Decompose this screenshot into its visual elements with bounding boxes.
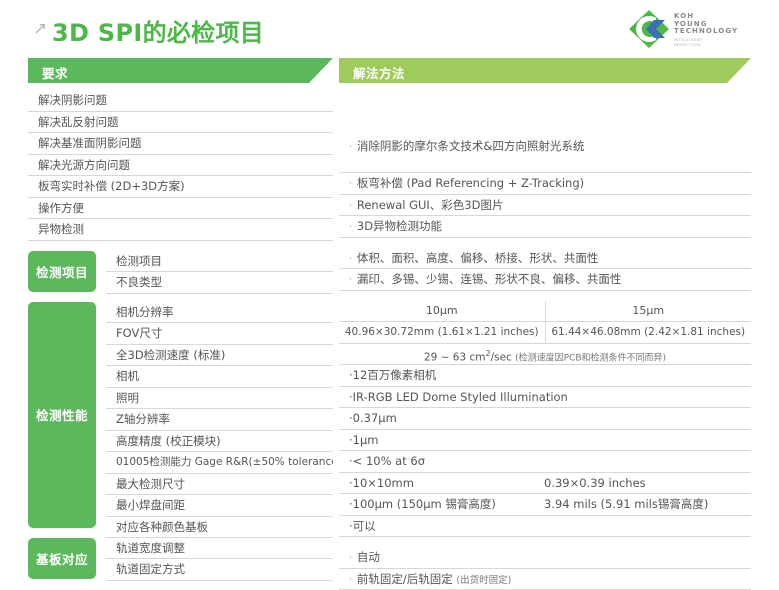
speed-value: 29 ~ 63 cm: [424, 351, 486, 363]
bullet-icon: ·: [349, 201, 352, 211]
bullet-icon: ·: [349, 275, 352, 285]
resolution-col-10um: 10µm: [339, 301, 546, 322]
group-chip-inspection-items: 检测项目: [28, 251, 96, 292]
table-row: 相机分辨率: [106, 302, 333, 324]
bullet-icon: ·: [349, 254, 352, 264]
group-chip-inspection-performance: 检测性能: [28, 302, 96, 528]
row-value-wrap: ·IR-RGB LED Dome Styled Illumination: [349, 387, 568, 408]
row-label: 不良类型: [106, 272, 333, 293]
table-row: ·100µm (150µm 锡膏高度) 3.94 mils (5.91 mils…: [339, 494, 751, 516]
logo-wordmark: KOH YOUNG TECHNOLOGY: [674, 13, 738, 36]
company-logo: KOH YOUNG TECHNOLOGY INTELLIGENT INSPECT…: [629, 8, 753, 50]
table-row: 解决乱反射问题: [28, 112, 333, 134]
row-value-note: (出货时固定): [456, 575, 511, 586]
table-row: ·3D异物检测功能: [339, 216, 751, 238]
row-value-wrap: ·可以: [349, 516, 376, 537]
row-label: 高度精度 (校正模块): [106, 431, 333, 452]
table-row: ·可以: [339, 516, 751, 538]
solutions-column: 解法方法 ·消除阴影的摩尔条文技术&四方向照射光系统 ·板弯补偿 (Pad Re…: [339, 58, 751, 83]
table-row: 操作方便: [28, 198, 333, 220]
table-row: ·Renewal GUI、彩色3D图片: [339, 195, 751, 217]
resolution-column-headers: 10µm 15µm: [339, 301, 751, 323]
row-label: 对应各种颜色基板: [106, 517, 333, 538]
group-rows: 相机分辨率 FOV尺寸 全3D检测速度 (标准) 相机 照明 Z轴分辨率 高度精…: [106, 302, 333, 539]
table-row: ·1µm: [339, 430, 751, 452]
group-rows: 检测项目 不良类型: [106, 251, 333, 294]
speed-row: 29 ~ 63 cm2/sec (检测速度因PCB和检测条件不同而异): [339, 344, 751, 366]
row-value-wrap: ·10×10mm: [349, 473, 414, 494]
row-value: 自动: [357, 550, 380, 564]
speed-unit: /sec: [491, 351, 512, 363]
row-value-wrap: ·100µm (150µm 锡膏高度): [349, 494, 496, 515]
table-row: 解决基准面阴影问题: [28, 133, 333, 155]
table-row: ·板弯补偿 (Pad Referencing + Z-Tracking): [339, 173, 751, 195]
logo-tagline: INTELLIGENT INSPECTION: [674, 38, 703, 47]
row-label: 解决光源方向问题: [28, 155, 333, 176]
row-label: 最小焊盘间距: [106, 495, 333, 516]
group-rows: 轨道宽度调整 轨道固定方式: [106, 538, 333, 581]
row-label: 检测项目: [106, 251, 333, 272]
row-value: 前轨固定/后轨固定: [357, 572, 457, 586]
row-value-wrap: ·< 10% at 6σ: [349, 451, 425, 472]
row-value: 10×10mm: [353, 476, 414, 490]
row-value-secondary: 0.39×0.39 inches: [544, 473, 646, 494]
group-inspection-performance: 检测性能 相机分辨率 FOV尺寸 全3D检测速度 (标准) 相机 照明 Z轴分辨…: [28, 302, 333, 528]
table-row: ·漏印、多锡、少锡、连锡、形状不良、偏移、共面性: [339, 269, 751, 291]
bullet-icon: ·: [349, 575, 352, 585]
row-label: 解决基准面阴影问题: [28, 133, 333, 154]
left-rows: 解决阴影问题 解决乱反射问题 解决基准面阴影问题 解决光源方向问题 板弯实时补偿…: [28, 90, 333, 579]
table-row: ·10×10mm 0.39×0.39 inches: [339, 473, 751, 495]
table-row: ·消除阴影的摩尔条文技术&四方向照射光系统: [339, 120, 751, 173]
table-row: ·自动: [339, 547, 751, 569]
group-spacer: [339, 291, 751, 301]
row-label: 相机: [106, 366, 333, 387]
table-row: 对应各种颜色基板: [106, 517, 333, 539]
table-row: 相机: [106, 366, 333, 388]
fov-15um-value: 61.44×46.08mm (2.42×1.81 inches): [546, 322, 752, 343]
bullet-icon: ·: [349, 222, 352, 232]
spacer-row: [339, 90, 751, 120]
table-row: 检测项目: [106, 251, 333, 273]
row-label: 01005检测能力 Gage R&R(±50% tolerance): [106, 452, 333, 473]
table-row: ·前轨固定/后轨固定 (出货时固定): [339, 569, 751, 590]
row-label: FOV尺寸: [106, 323, 333, 344]
row-value: 漏印、多锡、少锡、连锡、形状不良、偏移、共面性: [357, 272, 622, 286]
koh-young-logo-icon: [629, 10, 669, 48]
row-label: 全3D检测速度 (标准): [106, 345, 333, 366]
resolution-col-15um: 15µm: [546, 301, 752, 322]
logo-line-3: TECHNOLOGY: [674, 28, 738, 36]
logo-tagline-2: INSPECTION: [674, 43, 703, 48]
table-row: 解决光源方向问题: [28, 155, 333, 177]
table-row: FOV尺寸: [106, 323, 333, 345]
row-value: 体积、面积、高度、偏移、桥接、形状、共面性: [357, 251, 599, 265]
left-column-header: 要求: [28, 58, 333, 83]
row-label: 解决阴影问题: [28, 90, 333, 111]
table-row: ·12百万像素相机: [339, 365, 751, 387]
row-value-wrap: ·3D异物检测功能: [339, 216, 751, 238]
speed-note: (检测速度因PCB和检测条件不同而异): [515, 353, 666, 363]
table-row: ·0.37µm: [339, 408, 751, 430]
group-board-support: 基板对应 轨道宽度调整 轨道固定方式: [28, 538, 333, 579]
fov-10um-value: 40.96×30.72mm (1.61×1.21 inches): [339, 322, 546, 343]
left-header-bar: [28, 58, 333, 83]
table-row: 不良类型: [106, 272, 333, 294]
bullet-icon: ·: [349, 179, 352, 189]
row-value: 0.37µm: [353, 411, 397, 425]
group-spacer: [339, 238, 751, 248]
row-label: 解决乱反射问题: [28, 112, 333, 133]
row-value: < 10% at 6σ: [353, 454, 425, 468]
arrow-icon: ↗: [33, 21, 47, 38]
row-value-wrap: ·漏印、多锡、少锡、连锡、形状不良、偏移、共面性: [339, 269, 751, 291]
row-value: 可以: [353, 519, 376, 533]
table-row: 轨道固定方式: [106, 559, 333, 581]
right-rows: ·消除阴影的摩尔条文技术&四方向照射光系统 ·板弯补偿 (Pad Referen…: [339, 90, 751, 590]
row-value: Renewal GUI、彩色3D图片: [357, 198, 504, 212]
row-value-wrap: ·消除阴影的摩尔条文技术&四方向照射光系统: [339, 120, 751, 173]
row-value: 1µm: [353, 433, 379, 447]
row-value: 消除阴影的摩尔条文技术&四方向照射光系统: [357, 139, 584, 153]
group-chip-board-support: 基板对应: [28, 538, 96, 579]
table-row: 轨道宽度调整: [106, 538, 333, 560]
fov-size-row: 40.96×30.72mm (1.61×1.21 inches) 61.44×4…: [339, 322, 751, 344]
row-value: 100µm (150µm 锡膏高度): [353, 497, 496, 511]
row-value: 12百万像素相机: [353, 368, 437, 382]
row-value-wrap: ·体积、面积、高度、偏移、桥接、形状、共面性: [339, 248, 751, 270]
table-row: 异物检测: [28, 219, 333, 241]
row-label: 操作方便: [28, 198, 333, 219]
table-row: 全3D检测速度 (标准): [106, 345, 333, 367]
table-row: ·IR-RGB LED Dome Styled Illumination: [339, 387, 751, 409]
requirements-column: 要求 解决阴影问题 解决乱反射问题 解决基准面阴影问题 解决光源方向问题 板弯实…: [28, 58, 333, 83]
row-label: 板弯实时补偿 (2D+3D方案): [28, 176, 333, 197]
row-value-wrap: ·1µm: [349, 430, 379, 451]
row-value: 板弯补偿 (Pad Referencing + Z-Tracking): [357, 176, 584, 190]
table-row: 01005检测能力 Gage R&R(±50% tolerance): [106, 452, 333, 474]
table-row: ·< 10% at 6σ: [339, 451, 751, 473]
group-spacer: [339, 537, 751, 547]
row-value: 3D异物检测功能: [357, 219, 442, 233]
table-row: 最小焊盘间距: [106, 495, 333, 517]
row-value-secondary: 3.94 mils (5.91 mils锡膏高度): [544, 494, 708, 515]
table-row: 解决阴影问题: [28, 90, 333, 112]
table-row: 板弯实时补偿 (2D+3D方案): [28, 176, 333, 198]
row-value-wrap: ·Renewal GUI、彩色3D图片: [339, 195, 751, 217]
row-value-wrap: ·12百万像素相机: [349, 365, 436, 386]
row-label: 最大检测尺寸: [106, 474, 333, 495]
slide-header: ↗ 3D SPI的必检项目 KOH YOUNG TECHNOLOGY INTEL…: [0, 0, 779, 58]
row-label: 照明: [106, 388, 333, 409]
table-row: 照明: [106, 388, 333, 410]
row-value-wrap: ·板弯补偿 (Pad Referencing + Z-Tracking): [339, 173, 751, 195]
group-spacer: [28, 241, 333, 251]
right-column-header: 解法方法: [339, 58, 751, 83]
bullet-icon: ·: [349, 142, 352, 152]
row-value: IR-RGB LED Dome Styled Illumination: [353, 390, 568, 404]
row-label: 异物检测: [28, 219, 333, 240]
left-header-label: 要求: [42, 63, 68, 82]
table-row: 高度精度 (校正模块): [106, 431, 333, 453]
table-row: ·体积、面积、高度、偏移、桥接、形状、共面性: [339, 248, 751, 270]
row-label: 轨道固定方式: [106, 559, 333, 580]
row-value-wrap: ·自动: [339, 547, 751, 569]
table-row: Z轴分辨率: [106, 409, 333, 431]
logo-tagline-1: INTELLIGENT: [674, 38, 703, 43]
right-header-label: 解法方法: [353, 63, 405, 82]
group-inspection-items: 检测项目 检测项目 不良类型: [28, 251, 333, 292]
row-value-wrap: ·0.37µm: [349, 408, 397, 429]
row-label: Z轴分辨率: [106, 409, 333, 430]
comparison-table: 要求 解决阴影问题 解决乱反射问题 解决基准面阴影问题 解决光源方向问题 板弯实…: [0, 58, 779, 517]
page-title: 3D SPI的必检项目: [52, 13, 264, 48]
row-label: 相机分辨率: [106, 302, 333, 323]
row-value-wrap: ·前轨固定/后轨固定 (出货时固定): [339, 569, 751, 590]
bullet-icon: ·: [349, 553, 352, 563]
table-row: 最大检测尺寸: [106, 474, 333, 496]
row-label: 轨道宽度调整: [106, 538, 333, 559]
